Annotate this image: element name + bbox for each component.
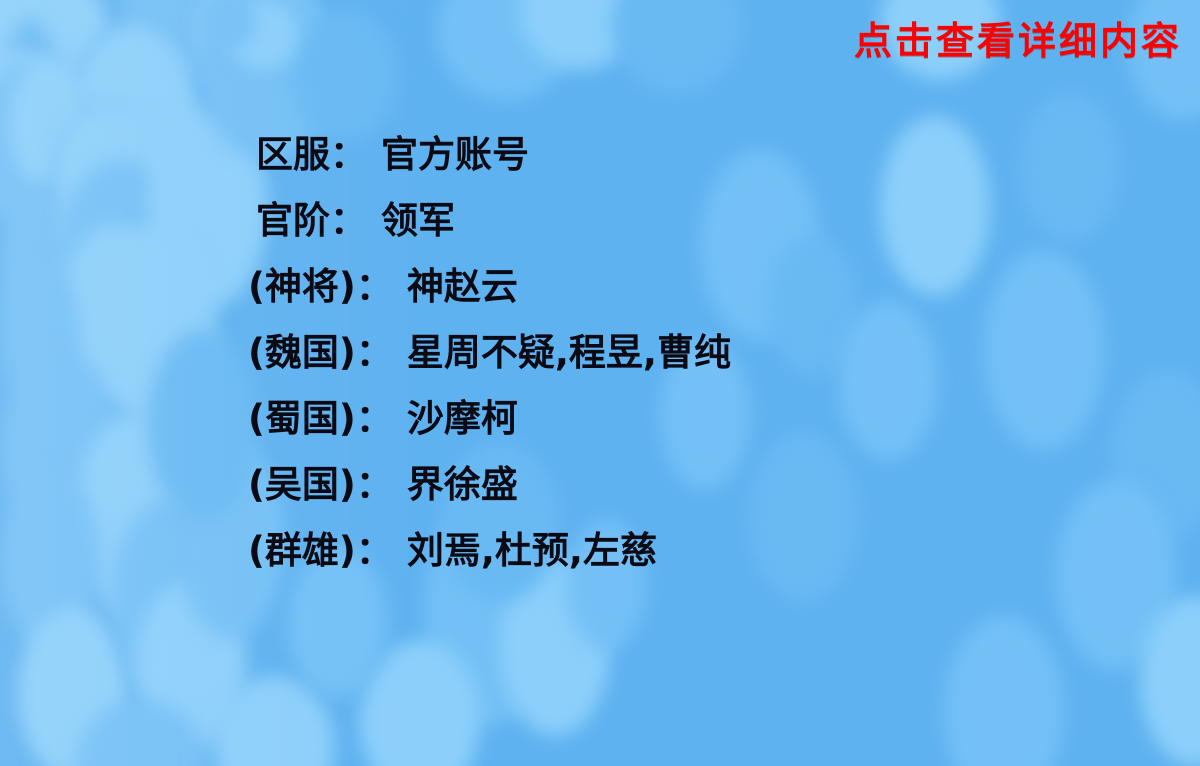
info-label-shu: (蜀国)： xyxy=(248,400,393,437)
info-row-divine-generals: (神将)： 神赵云 xyxy=(248,268,1008,334)
info-label-rank: 官阶： xyxy=(256,202,367,239)
info-label-wu: (吴国)： xyxy=(248,466,393,503)
info-value-rank: 领军 xyxy=(381,202,455,239)
info-row-shu: (蜀国)： 沙摩柯 xyxy=(248,400,1008,466)
info-value-wei: 星周不疑,程昱,曹纯 xyxy=(407,334,731,371)
info-label-warlords: (群雄)： xyxy=(248,532,393,569)
info-value-wu: 界徐盛 xyxy=(407,466,518,503)
info-row-wei: (魏国)： 星周不疑,程昱,曹纯 xyxy=(248,334,1008,400)
account-info-list: 区服： 官方账号 官阶： 领军 (神将)： 神赵云 (魏国)： 星周不疑,程昱,… xyxy=(248,136,1008,598)
header-bar: 点击查看详细内容 xyxy=(854,22,1182,60)
info-value-divine-generals: 神赵云 xyxy=(407,268,518,305)
info-label-region: 区服： xyxy=(256,136,367,173)
account-info-screen: 点击查看详细内容 区服： 官方账号 官阶： 领军 (神将)： 神赵云 (魏国)：… xyxy=(0,0,1200,766)
info-row-warlords: (群雄)： 刘焉,杜预,左慈 xyxy=(248,532,1008,598)
info-row-region: 区服： 官方账号 xyxy=(248,136,1008,202)
info-row-wu: (吴国)： 界徐盛 xyxy=(248,466,1008,532)
info-label-divine-generals: (神将)： xyxy=(248,268,393,305)
info-value-warlords: 刘焉,杜预,左慈 xyxy=(407,532,657,569)
info-row-rank: 官阶： 领军 xyxy=(248,202,1008,268)
info-value-shu: 沙摩柯 xyxy=(407,400,518,437)
info-label-wei: (魏国)： xyxy=(248,334,393,371)
view-details-link[interactable]: 点击查看详细内容 xyxy=(854,22,1182,60)
info-value-region: 官方账号 xyxy=(381,136,529,173)
